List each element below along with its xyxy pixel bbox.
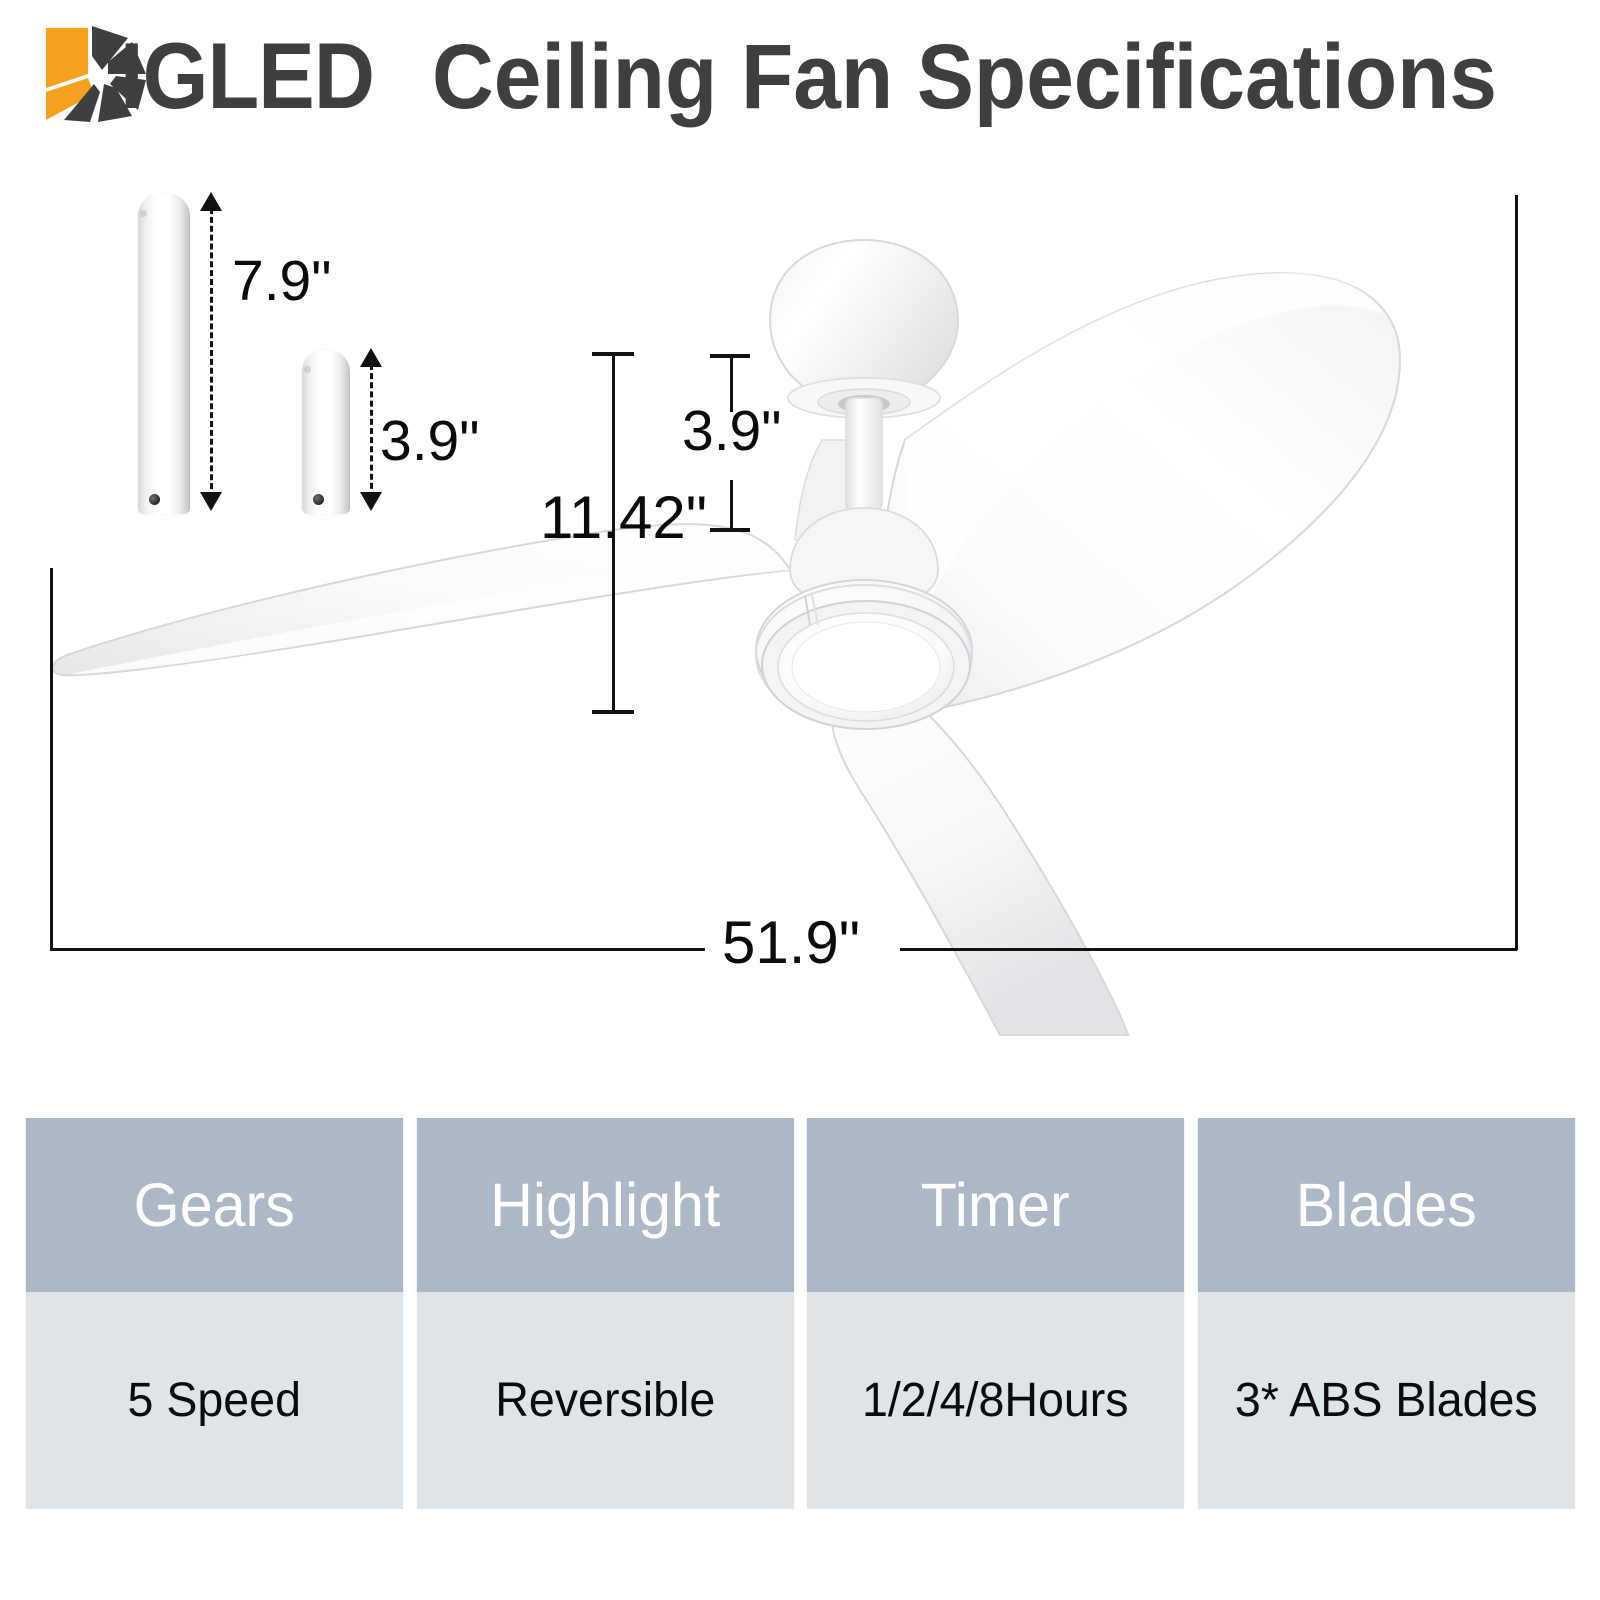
rod-seam xyxy=(140,210,147,217)
table-header-highlight: Highlight xyxy=(416,1118,793,1292)
dim-span-right-seg xyxy=(900,948,1517,951)
table-cell-timer: 1/2/4/8Hours xyxy=(807,1292,1184,1509)
page-title: Ceiling Fan Specifications xyxy=(432,24,1497,130)
downrod-short-label: 3.9" xyxy=(380,408,479,474)
dim-cap-bottom-canopy xyxy=(710,528,750,532)
table-header-gears: Gears xyxy=(26,1118,403,1292)
overall-height-label: 11.42" xyxy=(540,483,707,552)
dim-arrow-down-short xyxy=(360,492,382,511)
dim-arrow-down-long xyxy=(200,492,222,511)
table-cell-gears: 5 Speed xyxy=(26,1292,403,1509)
page-header: IGLED Ceiling Fan Specifications xyxy=(0,0,1600,140)
canopy-height-label: 3.9" xyxy=(682,398,781,464)
table-cell-highlight: Reversible xyxy=(416,1292,793,1509)
rod-hole xyxy=(313,494,324,505)
rod-hole xyxy=(149,494,160,505)
product-diagram: 7.9" 3.9" 11.42" 3.9" 51.9" xyxy=(0,140,1600,1040)
dim-line-canopy-2 xyxy=(730,480,733,530)
table-cell-blades: 3* ABS Blades xyxy=(1197,1292,1574,1509)
rod-seam xyxy=(304,366,311,373)
table-header-timer: Timer xyxy=(807,1118,1184,1292)
downrod-long-label: 7.9" xyxy=(232,248,331,314)
table-header-blades: Blades xyxy=(1197,1118,1574,1292)
specifications-table: Gears Highlight Timer Blades 5 Speed Rev… xyxy=(18,1118,1582,1509)
table-row: 5 Speed Reversible 1/2/4/8Hours 3* ABS B… xyxy=(20,1292,1580,1509)
dim-ext-right xyxy=(1515,195,1518,950)
dim-dash-long xyxy=(210,208,213,498)
downrod-long-image xyxy=(138,194,190,514)
blade-span-label: 51.9" xyxy=(722,908,860,977)
brand-name: IGLED xyxy=(120,24,374,128)
dim-span-left-seg xyxy=(50,948,705,951)
dim-ext-left xyxy=(50,568,53,950)
dim-dash-short xyxy=(370,364,373,498)
table-header-row: Gears Highlight Timer Blades xyxy=(20,1118,1580,1292)
dim-cap-bottom-height xyxy=(592,710,634,714)
downrod-short-image xyxy=(302,350,350,514)
